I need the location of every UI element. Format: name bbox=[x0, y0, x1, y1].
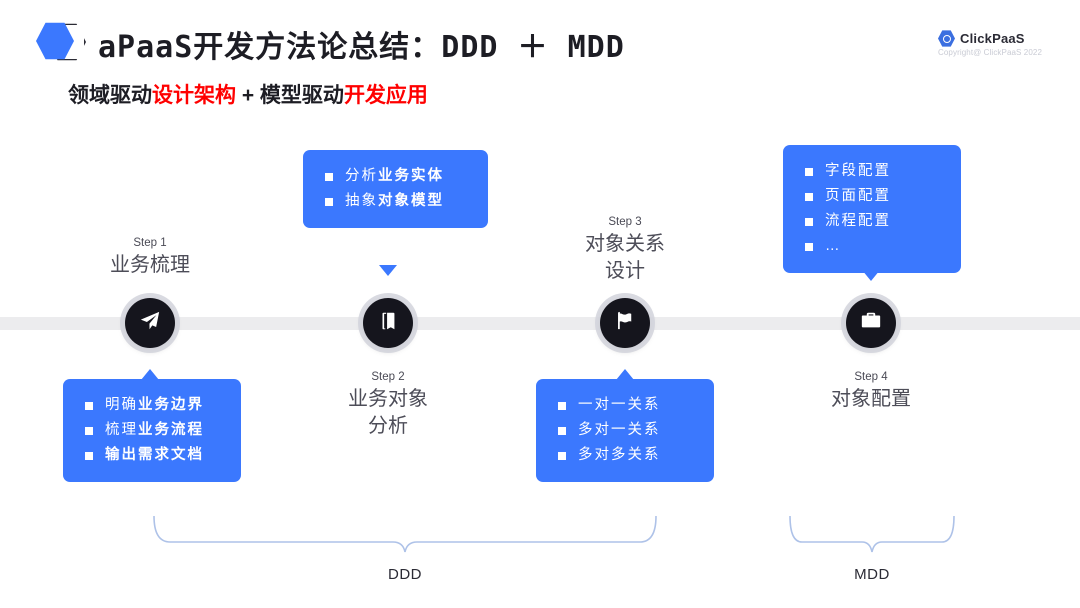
callout-2-item-2: 抽象对象模型 bbox=[345, 189, 444, 214]
step-name-4-line-1: 对象配置 bbox=[811, 386, 931, 413]
bullet-icon bbox=[805, 193, 813, 201]
bullet-icon bbox=[325, 173, 333, 181]
bullet-icon bbox=[805, 243, 813, 251]
brand-watermark: ClickPaaS Copyright@ ClickPaaS 2022 bbox=[938, 30, 1068, 64]
step-number-4: Step 4 bbox=[811, 369, 931, 386]
list-item: 页面配置 bbox=[805, 184, 941, 209]
callout-4-item-4: … bbox=[825, 234, 842, 259]
list-item: 梳理业务流程 bbox=[85, 418, 221, 443]
bracket-mdd bbox=[786, 514, 958, 554]
bullet-icon bbox=[85, 427, 93, 435]
step-name-2-line-2: 分析 bbox=[328, 413, 448, 440]
bullet-icon bbox=[805, 218, 813, 226]
bullet-icon bbox=[85, 452, 93, 460]
step-number-3: Step 3 bbox=[565, 214, 685, 231]
list-item: 多对多关系 bbox=[558, 443, 694, 468]
page-title: aPaaS开发方法论总结：DDD ＋ MDD bbox=[98, 22, 625, 66]
bullet-icon bbox=[325, 198, 333, 206]
callout-1-item-2: 梳理业务流程 bbox=[105, 418, 204, 443]
page-subtitle: 领域驱动设计架构 + 模型驱动开发应用 bbox=[68, 79, 428, 109]
subtitle-part-4-highlight: 开发应用 bbox=[344, 84, 428, 107]
list-item: 分析业务实体 bbox=[325, 164, 468, 189]
list-item: 抽象对象模型 bbox=[325, 189, 468, 214]
callout-4-tail bbox=[862, 270, 880, 281]
callout-1-item-3: 输出需求文档 bbox=[105, 443, 204, 468]
callout-3-item-1: 一对一关系 bbox=[578, 393, 661, 418]
step-name-3-line-1: 对象关系 bbox=[565, 231, 685, 258]
step-label-1: Step 1 业务梳理 bbox=[90, 235, 210, 279]
bullet-icon bbox=[558, 402, 566, 410]
briefcase-icon bbox=[860, 310, 882, 337]
list-item: 流程配置 bbox=[805, 209, 941, 234]
step-label-4: Step 4 对象配置 bbox=[811, 369, 931, 413]
list-item: 多对一关系 bbox=[558, 418, 694, 443]
bullet-icon bbox=[85, 402, 93, 410]
subtitle-part-3: + 模型驱动 bbox=[236, 84, 344, 107]
callout-2-item-1: 分析业务实体 bbox=[345, 164, 444, 189]
timeline-node-step-2[interactable] bbox=[363, 298, 413, 348]
callout-step-4: 字段配置 页面配置 流程配置 … bbox=[783, 145, 961, 273]
step-name-2-line-1: 业务对象 bbox=[328, 386, 448, 413]
callout-step-1: 明确业务边界 梳理业务流程 输出需求文档 bbox=[63, 379, 241, 482]
callout-3-item-2: 多对一关系 bbox=[578, 418, 661, 443]
timeline-node-step-3[interactable] bbox=[600, 298, 650, 348]
callout-1-item-1: 明确业务边界 bbox=[105, 393, 204, 418]
book-icon bbox=[377, 310, 399, 337]
step-name-1-line-1: 业务梳理 bbox=[90, 252, 210, 279]
step-label-3: Step 3 对象关系 设计 bbox=[565, 214, 685, 285]
list-item: 明确业务边界 bbox=[85, 393, 221, 418]
callout-2-tail bbox=[379, 265, 397, 276]
list-item: 一对一关系 bbox=[558, 393, 694, 418]
step-name-3-line-2: 设计 bbox=[565, 258, 685, 285]
brand-copyright: Copyright@ ClickPaaS 2022 bbox=[938, 48, 1068, 57]
callout-step-2: 分析业务实体 抽象对象模型 bbox=[303, 150, 488, 228]
callout-4-item-2: 页面配置 bbox=[825, 184, 891, 209]
callout-4-item-1: 字段配置 bbox=[825, 159, 891, 184]
flag-icon bbox=[614, 310, 636, 337]
callout-step-3: 一对一关系 多对一关系 多对多关系 bbox=[536, 379, 714, 482]
bullet-icon bbox=[805, 168, 813, 176]
brand-name: ClickPaaS bbox=[960, 31, 1025, 46]
subtitle-part-2-highlight: 设计架构 bbox=[152, 84, 236, 107]
callout-4-item-3: 流程配置 bbox=[825, 209, 891, 234]
bracket-ddd bbox=[150, 514, 660, 554]
list-item: … bbox=[805, 234, 941, 259]
timeline-node-step-1[interactable] bbox=[125, 298, 175, 348]
page-header: aPaaS开发方法论总结：DDD ＋ MDD 领域驱动设计架构 + 模型驱动开发… bbox=[0, 0, 1080, 120]
list-item: 输出需求文档 bbox=[85, 443, 221, 468]
subtitle-part-1: 领域驱动 bbox=[68, 84, 152, 107]
group-label-ddd: DDD bbox=[305, 566, 505, 583]
step-number-1: Step 1 bbox=[90, 235, 210, 252]
hexagon-logo-icon bbox=[34, 20, 90, 64]
paper-plane-icon bbox=[139, 310, 161, 337]
step-number-2: Step 2 bbox=[328, 369, 448, 386]
list-item: 字段配置 bbox=[805, 159, 941, 184]
callout-3-item-3: 多对多关系 bbox=[578, 443, 661, 468]
group-label-mdd: MDD bbox=[772, 566, 972, 583]
step-label-2: Step 2 业务对象 分析 bbox=[328, 369, 448, 440]
bullet-icon bbox=[558, 427, 566, 435]
clickpaas-hexagon-icon bbox=[938, 30, 955, 47]
timeline-node-step-4[interactable] bbox=[846, 298, 896, 348]
bullet-icon bbox=[558, 452, 566, 460]
